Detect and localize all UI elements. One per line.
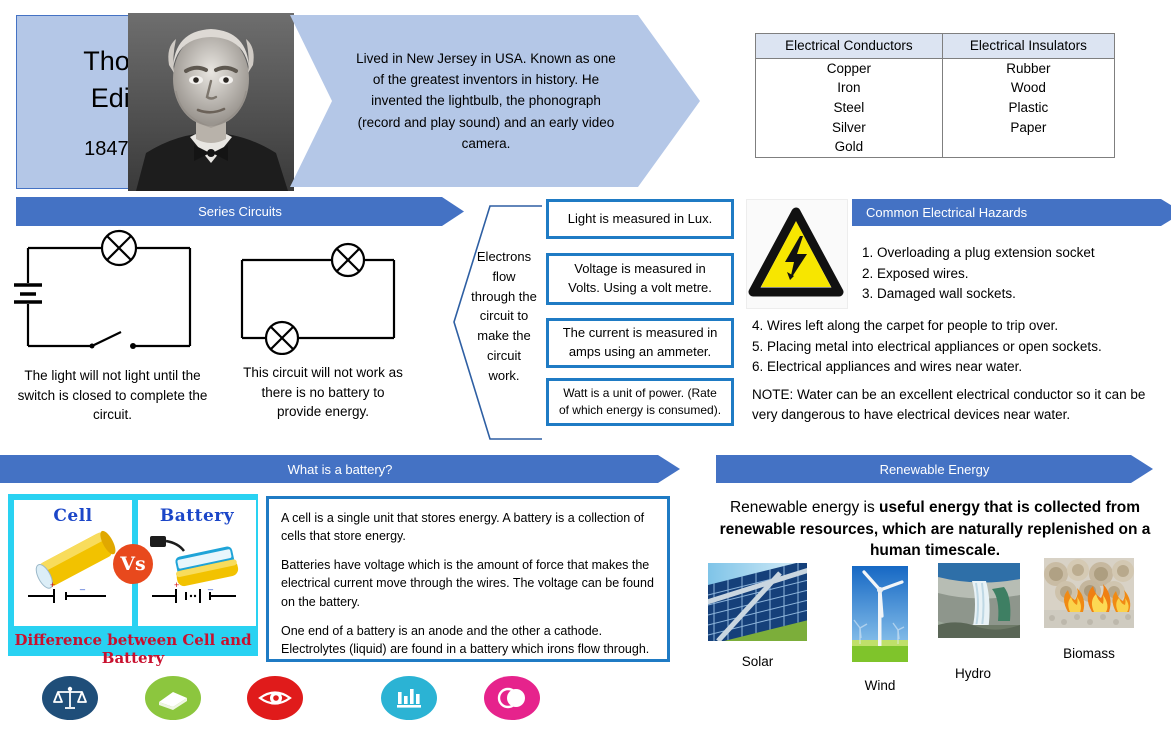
insulator-cell: Wood xyxy=(942,78,1114,98)
battery-title: Battery xyxy=(138,500,256,526)
circuit-2-caption: This circuit will not work as there is n… xyxy=(238,363,408,422)
hazards-list-right: 1. Overloading a plug extension socket 2… xyxy=(862,243,1095,305)
table-row: IronWood xyxy=(756,78,1115,98)
hazard-item: 3. Damaged wall sockets. xyxy=(862,284,1095,305)
biomass-fire-photo xyxy=(1044,558,1134,628)
table-row: CopperRubber xyxy=(756,58,1115,78)
hazards-banner: Common Electrical Hazards xyxy=(852,199,1171,226)
table-row: SilverPaper xyxy=(756,118,1115,138)
battery-banner: What is a battery? xyxy=(0,455,680,483)
venn-circles-icon[interactable] xyxy=(484,676,540,720)
battery-description-box: A cell is a single unit that stores ener… xyxy=(266,496,670,662)
measure-box-volts: Voltage is measured in Volts. Using a vo… xyxy=(546,253,734,305)
hazards-list-wide: 4. Wires left along the carpet for peopl… xyxy=(752,316,1102,378)
measure-box-watt-text: Watt is a unit of power. (Rate of which … xyxy=(557,385,723,420)
conductor-cell: Steel xyxy=(756,98,943,118)
svg-text:_: _ xyxy=(207,580,214,590)
hazards-note: NOTE: Water can be an excellent electric… xyxy=(752,385,1152,426)
source-solar-label: Solar xyxy=(708,654,807,669)
series-circuits-banner-label: Series Circuits xyxy=(198,204,282,219)
circuit-diagram-no-battery xyxy=(232,240,432,355)
source-hydro xyxy=(938,563,1020,643)
conductor-cell: Copper xyxy=(756,58,943,78)
source-solar xyxy=(708,563,807,646)
bar-chart-icon[interactable] xyxy=(381,676,437,720)
insulator-cell: Paper xyxy=(942,118,1114,138)
conductor-cell: Silver xyxy=(756,118,943,138)
conductor-cell: Gold xyxy=(756,137,943,157)
battery-paragraph: A cell is a single unit that stores ener… xyxy=(281,509,655,545)
solar-panels-photo xyxy=(708,563,807,641)
electrons-flow-chevron: Electrons flow through the circuit to ma… xyxy=(452,205,544,440)
measure-box-lux-text: Light is measured in Lux. xyxy=(568,210,713,229)
renewable-definition-normal: Renewable energy is xyxy=(730,499,879,516)
svg-text:_: _ xyxy=(79,580,86,590)
renewable-banner-label: Renewable Energy xyxy=(880,462,990,477)
measure-box-amps: The current is measured in amps using an… xyxy=(546,318,734,368)
edison-bio-chevron: Lived in New Jersey in USA. Known as one… xyxy=(290,15,700,187)
source-hydro-label: Hydro xyxy=(938,666,1008,681)
electrons-flow-text: Electrons flow through the circuit to ma… xyxy=(470,247,538,385)
battery-banner-label: What is a battery? xyxy=(288,462,393,477)
source-biomass xyxy=(1044,558,1134,633)
column-header-conductors: Electrical Conductors xyxy=(756,34,943,59)
measure-box-lux: Light is measured in Lux. xyxy=(546,199,734,239)
source-wind-label: Wind xyxy=(845,678,915,693)
wind-turbine-photo xyxy=(852,566,908,662)
svg-text:+: + xyxy=(174,580,179,590)
renewable-banner: Renewable Energy xyxy=(716,455,1153,483)
table-header-row: Electrical Conductors Electrical Insulat… xyxy=(756,34,1115,59)
hazards-banner-label: Common Electrical Hazards xyxy=(866,205,1027,220)
hazard-item: 1. Overloading a plug extension socket xyxy=(862,243,1095,264)
measure-box-amps-text: The current is measured in amps using an… xyxy=(557,324,723,362)
hazard-item: 4. Wires left along the carpet for peopl… xyxy=(752,316,1102,337)
table-row: Gold xyxy=(756,137,1115,157)
hazard-item: 5. Placing metal into electrical applian… xyxy=(752,337,1102,358)
column-header-insulators: Electrical Insulators xyxy=(942,34,1114,59)
vs-badge: Vs xyxy=(113,544,153,584)
circuit-diagram-with-switch xyxy=(14,228,219,358)
battery-paragraph: One end of a battery is an anode and the… xyxy=(281,622,655,658)
renewable-definition: Renewable energy is useful energy that i… xyxy=(710,497,1160,562)
cell-vs-battery-caption: Difference between Cell and Battery xyxy=(14,626,252,669)
cell-title: Cell xyxy=(14,500,132,526)
edison-portrait xyxy=(128,13,294,191)
hazard-item: 6. Electrical appliances and wires near … xyxy=(752,357,1102,378)
edison-bio-text: Lived in New Jersey in USA. Known as one… xyxy=(352,48,638,155)
measure-box-watt: Watt is a unit of power. (Rate of which … xyxy=(546,378,734,426)
source-wind xyxy=(852,566,908,667)
cell-vs-battery-graphic: Cell + _ Battery xyxy=(8,494,258,656)
insulator-cell: Rubber xyxy=(942,58,1114,78)
circuit-1-caption: The light will not light until the switc… xyxy=(10,366,215,425)
hazard-item: 2. Exposed wires. xyxy=(862,264,1095,285)
insulator-cell: Plastic xyxy=(942,98,1114,118)
conductor-cell: Iron xyxy=(756,78,943,98)
hydro-dam-photo xyxy=(938,563,1020,638)
measure-box-volts-text: Voltage is measured in Volts. Using a vo… xyxy=(557,260,723,298)
svg-text:+: + xyxy=(50,580,55,590)
series-circuits-banner: Series Circuits xyxy=(16,197,464,226)
eye-icon[interactable] xyxy=(247,676,303,720)
high-voltage-warning-icon xyxy=(746,199,848,309)
book-icon[interactable] xyxy=(145,676,201,720)
scales-icon[interactable] xyxy=(42,676,98,720)
battery-paragraph: Batteries have voltage which is the amou… xyxy=(281,556,655,610)
insulator-cell xyxy=(942,137,1114,157)
table-row: SteelPlastic xyxy=(756,98,1115,118)
materials-table: Electrical Conductors Electrical Insulat… xyxy=(755,33,1115,158)
battery-pane: Battery + _ xyxy=(138,500,256,626)
source-biomass-label: Biomass xyxy=(1044,646,1134,661)
